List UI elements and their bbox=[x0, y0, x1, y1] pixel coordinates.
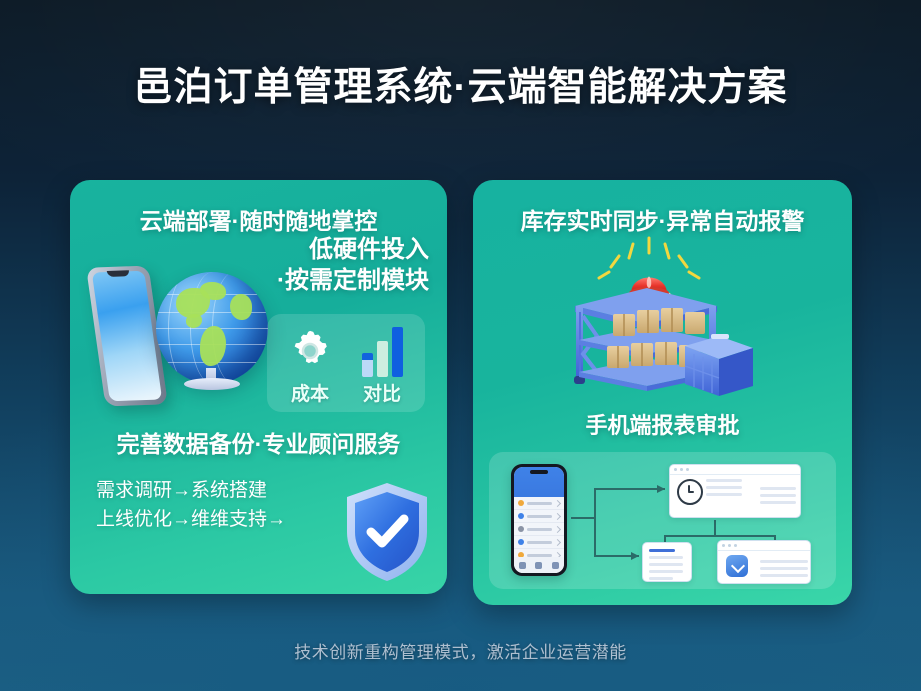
warehouse-alarm-illustration bbox=[535, 236, 775, 401]
service-step-1: 需求调研→系统搭建 bbox=[96, 476, 311, 505]
shield-check-icon bbox=[341, 480, 433, 584]
inset-label-cost: 成本 bbox=[279, 379, 341, 406]
alarm-rays bbox=[599, 238, 699, 278]
report-approval-flow-panel bbox=[489, 452, 836, 589]
phone-globe-illustration bbox=[88, 252, 278, 432]
inset-label-compare: 对比 bbox=[351, 379, 413, 406]
footer-tagline: 技术创新重构管理模式，激活企业运营潜能 bbox=[0, 638, 921, 663]
card-cloud-deployment: 云端部署·随时随地掌控 低硬件投入 ·按需定制模块 bbox=[70, 180, 447, 594]
left-card-heading: 云端部署·随时随地掌控 bbox=[70, 202, 447, 236]
inset-item-cost[interactable]: 成本 bbox=[279, 325, 341, 406]
left-card-section-heading: 完善数据备份·专业顾问服务 bbox=[70, 425, 447, 459]
approval-window[interactable] bbox=[717, 540, 811, 584]
storage-crate-icon bbox=[685, 334, 753, 396]
service-step-2: 上线优化→维维支持→ bbox=[96, 505, 311, 534]
right-card-heading: 库存实时同步·异常自动报警 bbox=[473, 202, 852, 236]
clock-icon bbox=[677, 479, 703, 505]
phone-screen bbox=[92, 271, 162, 402]
bar-chart-icon bbox=[351, 325, 413, 377]
report-window-clock[interactable] bbox=[669, 464, 801, 518]
service-steps: 需求调研→系统搭建 上线优化→维维支持→ bbox=[96, 476, 311, 535]
gear-icon bbox=[279, 325, 341, 377]
approve-badge-icon bbox=[726, 555, 748, 577]
poster-root: 邑泊订单管理系统·云端智能解决方案 云端部署·随时随地掌控 低硬件投入 ·按需定… bbox=[0, 0, 921, 691]
document-icon bbox=[649, 549, 675, 552]
page-title: 邑泊订单管理系统·云端智能解决方案 bbox=[0, 56, 921, 112]
window-titlebar bbox=[670, 465, 800, 475]
right-card-section-heading: 手机端报表审批 bbox=[473, 408, 852, 440]
document-card[interactable] bbox=[642, 542, 692, 582]
card-inventory-sync: 库存实时同步·异常自动报警 bbox=[473, 180, 852, 605]
globe-stand bbox=[184, 378, 240, 390]
cost-compare-panel: 成本 对比 bbox=[267, 314, 425, 412]
window-titlebar bbox=[718, 541, 810, 551]
inset-item-compare[interactable]: 对比 bbox=[351, 325, 413, 406]
